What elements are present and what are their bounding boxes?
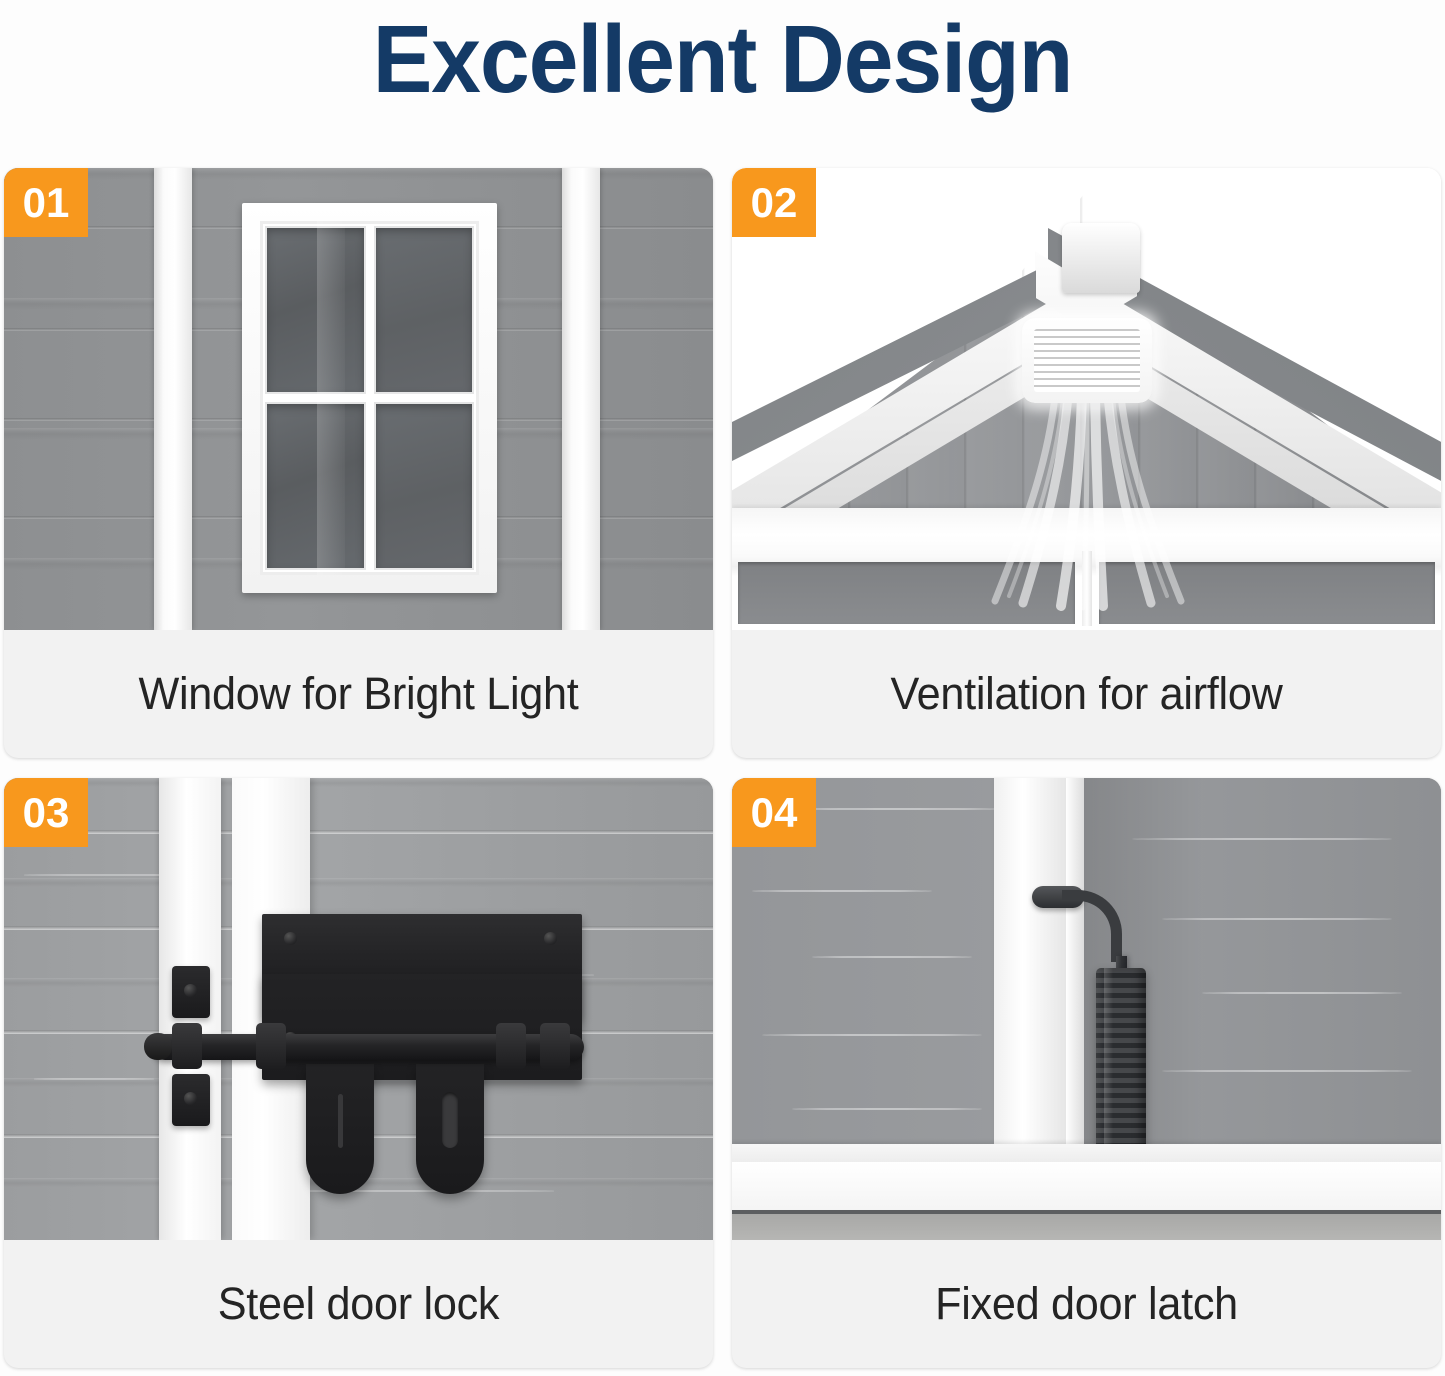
bolt-collar xyxy=(256,1023,286,1069)
card-caption-01: Window for Bright Light xyxy=(18,630,699,758)
ground-floor-strip xyxy=(732,1214,1441,1240)
airflow-streaks-icon xyxy=(937,396,1237,611)
window-pane xyxy=(265,226,366,394)
page-title: Excellent Design xyxy=(51,4,1395,116)
siding-seam xyxy=(4,830,713,834)
ventilation-photo: 02 xyxy=(732,168,1441,630)
lock-keeper-upper xyxy=(172,966,210,1018)
window-pane xyxy=(374,402,475,570)
lock-hasp-tab xyxy=(306,1064,374,1194)
wood-grain xyxy=(792,808,1002,810)
wood-grain xyxy=(812,956,972,958)
door-lock-photo: 03 xyxy=(4,778,713,1240)
lock-keeper-lower xyxy=(172,1074,210,1126)
screw-icon xyxy=(284,932,297,945)
lock-hasp-tab xyxy=(416,1064,484,1194)
slide-bolt-knob xyxy=(144,1033,172,1060)
ventilation-vent xyxy=(1022,318,1152,403)
badge-number-01: 01 xyxy=(4,168,88,237)
wall-trim-right xyxy=(562,168,600,630)
wall-trim-left xyxy=(154,168,192,630)
vent-louver-slats xyxy=(1034,329,1140,392)
feature-card-03[interactable]: 03 Steel door lock xyxy=(4,778,713,1368)
wood-grain xyxy=(34,1078,154,1080)
window-frame xyxy=(242,203,497,593)
card-caption-03: Steel door lock xyxy=(18,1240,699,1368)
screw-icon xyxy=(544,932,557,945)
feature-infographic: Excellent Design xyxy=(0,0,1445,1376)
feature-card-grid: 01 Window for Bright Light xyxy=(4,168,1441,1368)
bolt-collar xyxy=(172,1023,202,1069)
wood-grain xyxy=(752,890,932,892)
wood-grain xyxy=(792,1108,982,1110)
door-latch-photo: 04 xyxy=(732,778,1441,1240)
badge-number-03: 03 xyxy=(4,778,88,847)
screw-icon xyxy=(184,1092,197,1105)
feature-card-04[interactable]: 04 Fixed door latch xyxy=(732,778,1441,1368)
window-photo: 01 xyxy=(4,168,713,630)
bolt-collar xyxy=(540,1023,570,1069)
badge-number-04: 04 xyxy=(732,778,816,847)
window-pane xyxy=(265,402,366,570)
card-caption-04: Fixed door latch xyxy=(746,1240,1427,1368)
feature-card-02[interactable]: 02 Ventilation for airflow xyxy=(732,168,1441,758)
wood-grain xyxy=(1202,992,1402,994)
badge-number-02: 02 xyxy=(732,168,816,237)
feature-card-01[interactable]: 01 Window for Bright Light xyxy=(4,168,713,758)
wood-grain xyxy=(762,1034,982,1036)
door-threshold xyxy=(732,1162,1441,1212)
spring-highlight xyxy=(1104,968,1113,1168)
padlock-slot xyxy=(442,1092,458,1148)
window-pane xyxy=(374,226,475,394)
glass-reflection xyxy=(317,221,345,575)
window-panes xyxy=(260,221,479,575)
door-trim-vertical xyxy=(994,778,1066,1148)
latch-spring-coil xyxy=(1096,968,1146,1168)
door-trim-edge xyxy=(1066,778,1084,1148)
bolt-collar xyxy=(496,1023,526,1069)
roof-ridge-cap xyxy=(1062,223,1140,293)
screw-icon xyxy=(184,984,197,997)
hasp-slot xyxy=(338,1094,343,1148)
card-caption-02: Ventilation for airflow xyxy=(746,630,1427,758)
